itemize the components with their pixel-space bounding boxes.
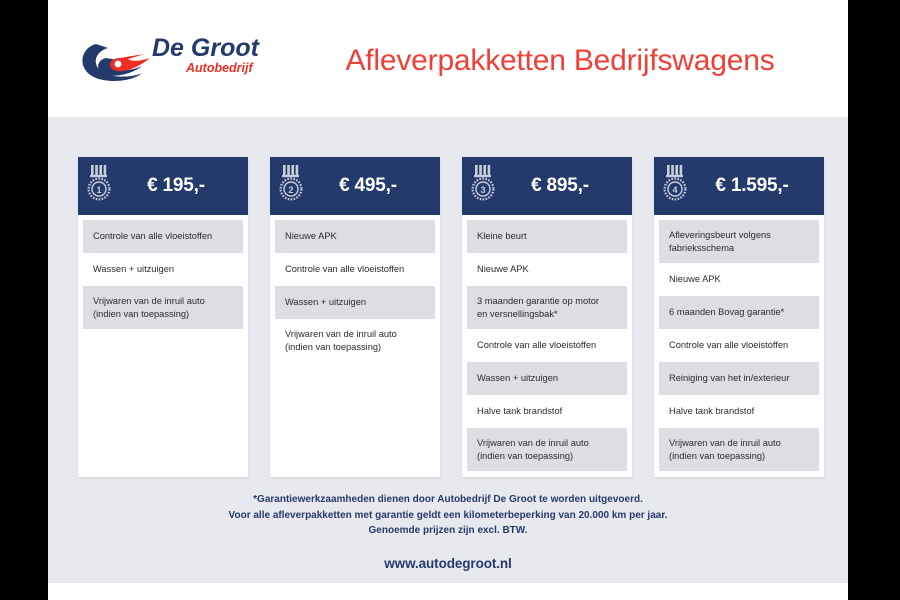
feature-item: Controle van alle vloeistoffen — [83, 220, 243, 253]
svg-text:De Groot: De Groot — [152, 34, 261, 62]
footer-line: Genoemde prijzen zijn excl. BTW. — [48, 523, 848, 539]
poster-stage: De Groot Autobedrijf Afleverpakketten Be… — [48, 0, 848, 600]
bottom-strip — [48, 583, 848, 600]
feature-item: Controle van alle vloeistoffen — [659, 329, 819, 362]
feature-item: Nieuwe APK — [275, 220, 435, 253]
card-feature-list: Controle van alle vloeistoffenWassen + u… — [78, 215, 248, 335]
package-card-4: 4€ 1.595,-Afleveringsbeurt volgens fabri… — [654, 157, 824, 477]
medal-icon: 1 — [86, 164, 114, 208]
feature-item: 6 maanden Bovag garantie* — [659, 296, 819, 329]
package-card-2: 2€ 495,-Nieuwe APKControle van alle vloe… — [270, 157, 440, 477]
svg-text:2: 2 — [288, 185, 293, 195]
footer: *Garantiewerkzaamheden dienen door Autob… — [48, 492, 848, 571]
card-header: 4€ 1.595,- — [654, 157, 824, 215]
package-card-3: 3€ 895,-Kleine beurtNieuwe APK3 maanden … — [462, 157, 632, 477]
feature-item: Reiniging van het in/exterieur — [659, 362, 819, 395]
card-feature-list: Kleine beurtNieuwe APK3 maanden garantie… — [462, 215, 632, 477]
feature-item: Vrijwaren van de inruil auto (indien van… — [83, 286, 243, 329]
package-card-list: 1€ 195,-Controle van alle vloeistoffenWa… — [48, 157, 848, 477]
footer-line: Voor alle afleverpakketten met garantie … — [48, 508, 848, 524]
feature-item: Halve tank brandstof — [467, 395, 627, 428]
feature-item: Controle van alle vloeistoffen — [275, 253, 435, 286]
feature-item: Vrijwaren van de inruil auto (indien van… — [659, 428, 819, 471]
card-feature-list: Afleveringsbeurt volgens fabrieksschemaN… — [654, 215, 824, 477]
header-band: De Groot Autobedrijf Afleverpakketten Be… — [48, 0, 848, 117]
card-header: 1€ 195,- — [78, 157, 248, 215]
feature-item: Vrijwaren van de inruil auto (indien van… — [275, 319, 435, 362]
card-header: 3€ 895,- — [462, 157, 632, 215]
medal-icon: 3 — [470, 164, 498, 208]
package-card-1: 1€ 195,-Controle van alle vloeistoffenWa… — [78, 157, 248, 477]
medal-icon: 2 — [278, 164, 306, 208]
website-url[interactable]: www.autodegroot.nl — [48, 556, 848, 571]
feature-item: Halve tank brandstof — [659, 395, 819, 428]
feature-item: Controle van alle vloeistoffen — [467, 329, 627, 362]
package-price: € 195,- — [114, 175, 242, 197]
svg-text:1: 1 — [96, 185, 101, 195]
feature-item: Wassen + uitzuigen — [275, 286, 435, 319]
package-price: € 495,- — [306, 175, 434, 197]
feature-item: Wassen + uitzuigen — [467, 362, 627, 395]
feature-item: Afleveringsbeurt volgens fabrieksschema — [659, 220, 819, 263]
feature-item: Nieuwe APK — [659, 263, 819, 296]
feature-item: Nieuwe APK — [467, 253, 627, 286]
feature-item: Wassen + uitzuigen — [83, 253, 243, 286]
footer-line: *Garantiewerkzaamheden dienen door Autob… — [48, 492, 848, 508]
feature-item: Vrijwaren van de inruil auto (indien van… — [467, 428, 627, 471]
de-groot-logo: De Groot Autobedrijf — [76, 28, 286, 90]
feature-item: Kleine beurt — [467, 220, 627, 253]
svg-text:4: 4 — [672, 185, 677, 195]
package-price: € 895,- — [498, 175, 626, 197]
svg-text:Autobedrijf: Autobedrijf — [185, 61, 254, 75]
page-title: Afleverpakketten Bedrijfswagens — [280, 44, 840, 78]
medal-icon: 4 — [662, 164, 690, 208]
package-price: € 1.595,- — [690, 175, 818, 197]
feature-item: 3 maanden garantie op motor en versnelli… — [467, 286, 627, 329]
card-header: 2€ 495,- — [270, 157, 440, 215]
svg-text:3: 3 — [480, 185, 485, 195]
card-feature-list: Nieuwe APKControle van alle vloeistoffen… — [270, 215, 440, 368]
